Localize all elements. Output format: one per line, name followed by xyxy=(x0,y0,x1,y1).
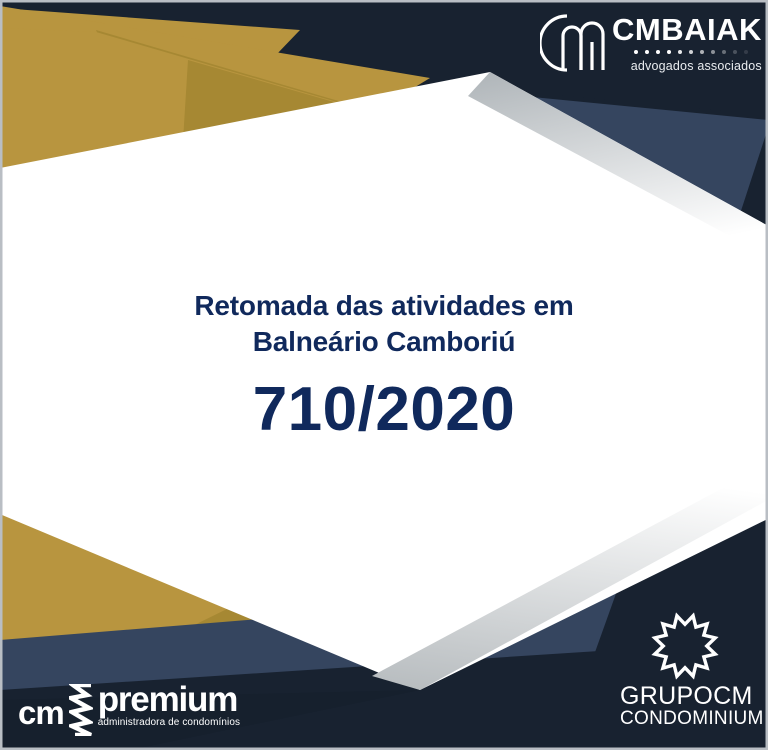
cmbaiak-wordmark-block: CMBAIAK advogados associados xyxy=(612,14,762,73)
cmbaiak-tagline: advogados associados xyxy=(612,59,762,73)
logo-cmbaiak: CMBAIAK advogados associados xyxy=(540,8,760,86)
cm-premium-cm-text: cm xyxy=(18,697,64,728)
cm-premium-word: premium xyxy=(98,684,240,716)
logo-grupocm: GRUPOCM CONDOMINIUM xyxy=(620,612,750,729)
message-block: Retomada das atividades em Balneário Cam… xyxy=(0,288,768,442)
cm-monogram-icon xyxy=(540,12,606,74)
poster-canvas: CMBAIAK advogados associados Retomada da… xyxy=(0,0,768,750)
grupocm-line-2: CONDOMINIUM xyxy=(620,709,750,729)
document-number: 710/2020 xyxy=(0,377,768,442)
cm-premium-tagline: administradora de condomínios xyxy=(98,717,240,728)
headline-line-1: Retomada das atividades em xyxy=(0,288,768,324)
grupocm-line-1: GRUPOCM xyxy=(620,684,750,709)
cmbaiak-dot-row xyxy=(612,50,762,55)
cm-premium-right-block: premium administradora de condomínios xyxy=(98,684,240,728)
cmbaiak-name: CMBAIAK xyxy=(612,14,762,45)
logo-cm-premium: cm premium administradora de condomínios xyxy=(18,676,240,728)
headline-line-2: Balneário Camboriú xyxy=(0,324,768,360)
starburst-icon xyxy=(651,612,719,680)
zigzag-bolt-icon xyxy=(69,684,93,736)
